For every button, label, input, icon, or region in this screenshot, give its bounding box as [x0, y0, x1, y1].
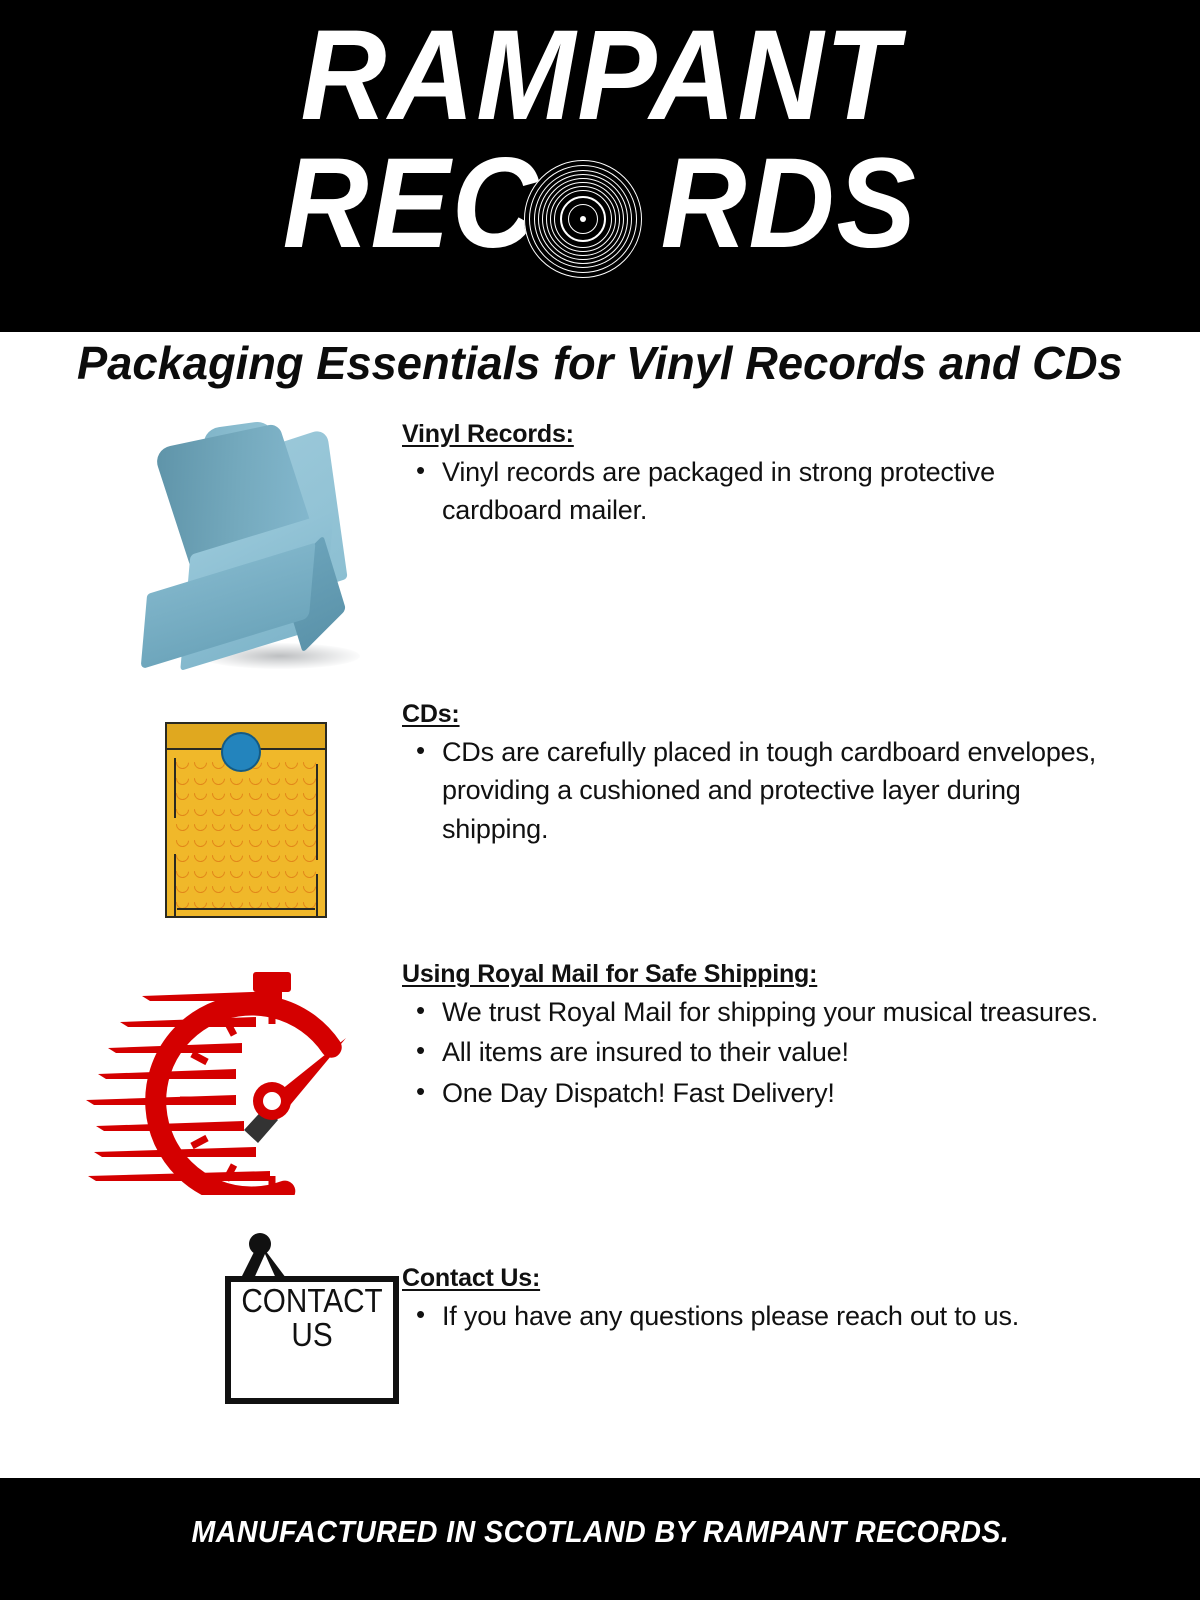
section-vinyl-records: Vinyl Records: Vinyl records are package… — [0, 420, 1200, 690]
cardboard-mailer-box-icon — [110, 425, 370, 685]
padded-bubble-envelope-icon — [165, 722, 327, 918]
cds-section-heading: CDs: — [402, 700, 1110, 729]
list-item: Vinyl records are packaged in strong pro… — [442, 453, 1110, 530]
vinyl-section-illustration — [70, 420, 370, 690]
section-royal-mail: Using Royal Mail for Safe Shipping: We t… — [0, 960, 1200, 1200]
envelope-left-crease-bottom — [174, 854, 176, 916]
envelope-right-crease-top — [316, 764, 318, 860]
poster-page: RAMPANT RECORDS Packaging Essentials for… — [0, 0, 1200, 1600]
envelope-right-crease-bottom — [316, 874, 318, 916]
list-item: If you have any questions please reach o… — [442, 1297, 1110, 1335]
list-item: CDs are carefully placed in tough cardbo… — [442, 733, 1110, 848]
footer-banner: MANUFACTURED IN SCOTLAND BY RAMPANT RECO… — [0, 1478, 1200, 1600]
royal-mail-section-heading: Using Royal Mail for Safe Shipping: — [402, 960, 1110, 989]
section-cds: CDs: CDs are carefully placed in tough c… — [0, 700, 1200, 940]
cds-section-illustration — [70, 700, 370, 940]
list-item: We trust Royal Mail for shipping your mu… — [442, 993, 1110, 1031]
list-item: All items are insured to their value! — [442, 1033, 1110, 1071]
sign-text: CONTACT US — [225, 1284, 399, 1351]
cds-section-text: CDs: CDs are carefully placed in tough c… — [380, 700, 1110, 850]
contact-section-heading: Contact Us: — [402, 1264, 1110, 1293]
footer-text: MANUFACTURED IN SCOTLAND BY RAMPANT RECO… — [191, 1514, 1009, 1550]
envelope-left-crease-top — [174, 758, 176, 818]
royal-mail-section-bullet-list: We trust Royal Mail for shipping your mu… — [380, 993, 1110, 1112]
hanging-contact-us-sign-icon: CONTACT US — [155, 1230, 365, 1410]
brand-line-1-text: RAMPANT — [300, 12, 899, 140]
list-item: One Day Dispatch! Fast Delivery! — [442, 1074, 1110, 1112]
brand-line-1: RAMPANT — [0, 12, 1200, 140]
vinyl-record-icon — [524, 160, 642, 278]
footer-text-wrapper: MANUFACTURED IN SCOTLAND BY RAMPANT RECO… — [0, 1514, 1200, 1550]
page-title: Packaging Essentials for Vinyl Records a… — [0, 336, 1200, 390]
vinyl-section-heading: Vinyl Records: — [402, 420, 1110, 449]
vinyl-section-bullet-list: Vinyl records are packaged in strong pro… — [380, 453, 1110, 530]
contact-section-bullet-list: If you have any questions please reach o… — [380, 1297, 1110, 1335]
envelope-bottom-crease — [177, 908, 315, 910]
royal-mail-section-text: Using Royal Mail for Safe Shipping: We t… — [380, 960, 1110, 1114]
section-contact-us: CONTACT US Contact Us: If you have any q… — [0, 1230, 1200, 1420]
contact-section-illustration: CONTACT US — [70, 1230, 370, 1420]
envelope-bubble-pattern — [176, 756, 316, 910]
brand-line-2-post-text: RDS — [660, 140, 917, 268]
brand-line-2-pre-text: REC — [283, 140, 540, 268]
contact-section-text: Contact Us: If you have any questions pl… — [380, 1264, 1110, 1337]
envelope-blue-seal-icon — [221, 732, 261, 772]
header-banner: RAMPANT RECORDS — [0, 0, 1200, 332]
royal-mail-section-illustration — [70, 960, 370, 1200]
sign-line-1: CONTACT — [234, 1284, 391, 1318]
sign-line-2: US — [234, 1318, 391, 1352]
vinyl-section-text: Vinyl Records: Vinyl records are package… — [380, 420, 1110, 532]
page-title-text: Packaging Essentials for Vinyl Records a… — [77, 336, 1123, 390]
cds-section-bullet-list: CDs are carefully placed in tough cardbo… — [380, 733, 1110, 848]
fast-stopwatch-icon — [80, 960, 380, 1195]
